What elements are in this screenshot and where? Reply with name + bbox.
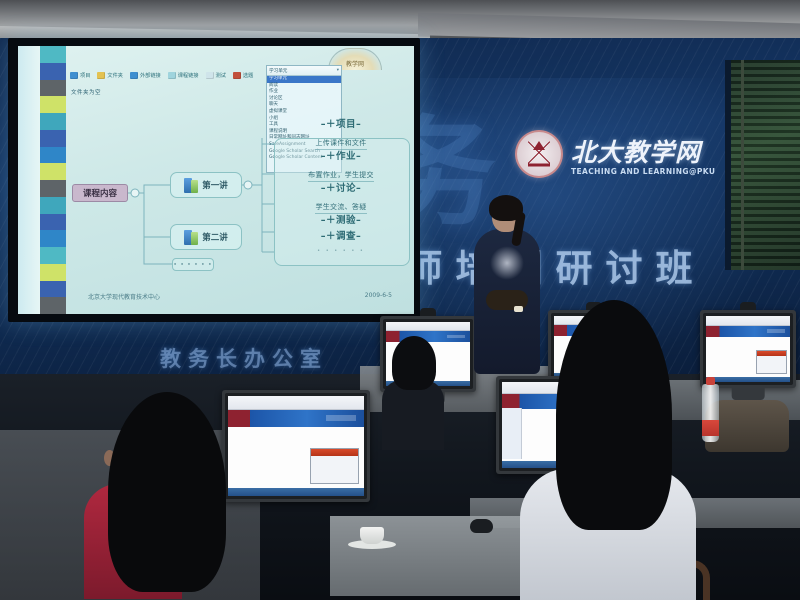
test-icon (206, 72, 214, 79)
dropdown-option[interactable]: 阅读 (267, 83, 341, 90)
chevron-down-icon[interactable]: ▾ (337, 68, 339, 73)
colorbar-segment (40, 197, 66, 214)
monitor-screen[interactable] (228, 396, 364, 496)
toolbar-item-label: 外部链接 (140, 72, 161, 79)
student-mid (382, 336, 444, 446)
dropdown-selected-label: 学习单元 (269, 68, 287, 74)
banner-char-5: 讨 (600, 238, 650, 292)
colorbar-segment (40, 96, 66, 113)
browser-toolbar (706, 316, 790, 326)
colorbar-segment (40, 297, 66, 314)
windows-taskbar (228, 488, 364, 496)
folder-icon (97, 72, 105, 79)
site-header-banner (706, 326, 790, 337)
colorbar-column (40, 46, 66, 314)
water-bottle (702, 384, 719, 442)
mindmap-stub-node[interactable]: • • • • • • (172, 258, 214, 271)
classroom-photo-scene: 务 北大教学网 TEACHING AND LEARNING@PKU 师 培 训 … (0, 0, 800, 600)
branch-quiz-title: –＋测验– (274, 212, 408, 226)
webcam-icon (740, 302, 756, 310)
dropdown-option[interactable]: 讨论区 (267, 96, 341, 103)
course-link-icon (168, 72, 176, 79)
toolbar-item-label: 选题 (243, 72, 253, 79)
mindmap-branch-project[interactable]: –＋项目– 上传课件和文件 (274, 116, 408, 150)
colorbar-segment (40, 130, 66, 147)
student-mid-hair (392, 336, 436, 390)
branch-discussion-title: –＋讨论– (274, 180, 408, 194)
popup-dialog[interactable] (756, 350, 787, 374)
lecture-1-label: 第一讲 (202, 179, 228, 191)
popup-titlebar (311, 449, 357, 456)
monitor-front-left[interactable] (222, 390, 370, 502)
browser-toolbar (386, 322, 470, 331)
browser-toolbar (228, 396, 364, 410)
site-header-banner (228, 410, 364, 427)
pku-seal-icon (515, 130, 563, 178)
slide-footer-org: 北京大学现代教育技术中心 (88, 292, 160, 301)
colorbar-segment (40, 230, 66, 247)
bottle-label (702, 420, 719, 436)
mindmap-branch-quiz[interactable]: –＋测验– (274, 212, 408, 226)
book-icon (184, 178, 198, 193)
colorbar-segment (40, 180, 66, 197)
window-frame (741, 60, 744, 270)
windows-taskbar (706, 377, 790, 382)
computer-mouse[interactable] (470, 519, 493, 533)
book-icon (184, 230, 198, 245)
banner-char-6: 班 (650, 238, 700, 292)
colorbar-segment (40, 214, 66, 231)
course-content-mindmap: 课程内容 第一讲 第二讲 • • • • • • –＋项目– 上传课件和文件 –… (66, 132, 414, 272)
toolbar-item-1[interactable]: 项目 (70, 72, 90, 79)
projection-colorbars (18, 46, 66, 314)
toolbar-item-3[interactable]: 外部链接 (130, 72, 161, 79)
colorbar-white (18, 46, 40, 314)
toolbar-item-6[interactable]: 选题 (233, 72, 253, 79)
popup-dialog[interactable] (310, 448, 358, 484)
popup-titlebar (757, 351, 786, 356)
mindmap-lecture-1[interactable]: 第一讲 (170, 172, 242, 198)
tea-cup (360, 527, 384, 544)
mindmap-branch-more[interactable]: • • • • • • (274, 248, 408, 254)
colorbar-segment (40, 281, 66, 298)
toolbar-item-label: 测试 (216, 72, 226, 79)
browser-content (706, 337, 790, 377)
banner-char-4: 研 (550, 238, 600, 292)
pku-brand-chinese: 北大教学网 (571, 133, 715, 169)
mindmap-lecture-2[interactable]: 第二讲 (170, 224, 242, 250)
slide-content: 教学网 项目文件夹外部链接课程链接测试选题 文件夹为空 学习单元 ▾ 学习单元阅… (66, 46, 414, 314)
dropdown-header[interactable]: 学习单元 ▾ (267, 66, 341, 76)
topic-icon (233, 72, 241, 79)
colorbar-segment (40, 63, 66, 80)
project-icon (70, 72, 78, 79)
monitor-far-right[interactable] (700, 310, 796, 388)
student-front-left (78, 392, 238, 600)
colorbar-segment (40, 264, 66, 281)
toolbar-item-label: 项目 (80, 72, 90, 79)
student-front-right-hair (556, 300, 672, 530)
toolbar-item-label: 文件夹 (107, 72, 123, 79)
mindmap-branch-survey[interactable]: –＋调查– (274, 228, 408, 242)
branch-project-title: –＋项目– (274, 116, 408, 130)
mindmap-root-node[interactable]: 课程内容 (72, 184, 128, 202)
ceiling (0, 0, 800, 42)
dropdown-option[interactable]: 学习单元 (267, 76, 341, 83)
colorbar-segment (40, 46, 66, 63)
toolbar-item-5[interactable]: 测试 (206, 72, 226, 79)
dropdown-option[interactable]: 作业 (267, 89, 341, 96)
colorbar-segment (40, 163, 66, 180)
monitor-screen[interactable] (706, 316, 790, 382)
colorbar-segment (40, 147, 66, 164)
branch-homework-title: –＋作业– (274, 148, 408, 162)
toolbar-item-label: 课程链接 (178, 72, 199, 79)
presenter-top-print (490, 246, 524, 280)
student-mid-torso (382, 380, 444, 450)
colorbar-segment (40, 247, 66, 264)
colorbar-segment (40, 113, 66, 130)
toolbar-item-2[interactable]: 文件夹 (97, 72, 123, 79)
seminar-banner: 师 培 训 研 讨 班 (400, 238, 700, 292)
toolbar-item-4[interactable]: 课程链接 (168, 72, 199, 79)
wall-sign-1: 教务长办公室 (160, 343, 328, 373)
projected-slide: 教学网 项目文件夹外部链接课程链接测试选题 文件夹为空 学习单元 ▾ 学习单元阅… (18, 46, 414, 314)
link-icon (130, 72, 138, 79)
empty-folder-note: 文件夹为空 (71, 88, 101, 96)
student-front-right (500, 300, 700, 600)
mindmap-branch-discussion[interactable]: –＋讨论– 学生交流、答疑 (274, 180, 408, 214)
webcam-icon (420, 308, 436, 316)
dropdown-option[interactable]: 聊天 (267, 102, 341, 109)
slide-footer: 北京大学现代教育技术中心 2009-6-5 (66, 292, 414, 301)
browser-content (228, 427, 364, 488)
dropdown-option[interactable]: 虚拟课堂 (267, 109, 341, 116)
lecture-2-label: 第二讲 (202, 231, 228, 243)
colorbar-segment (40, 80, 66, 97)
branch-survey-title: –＋调查– (274, 228, 408, 242)
window (725, 60, 800, 270)
student-front-left-hair (108, 392, 226, 592)
monitor-stand (732, 387, 765, 400)
mindmap-branch-homework[interactable]: –＋作业– 布置作业，学生提交 (274, 148, 408, 182)
bottle-cap (706, 377, 715, 385)
pku-brand-lockup: 北大教学网 TEACHING AND LEARNING@PKU (515, 130, 715, 178)
pku-brand-english: TEACHING AND LEARNING@PKU (571, 167, 715, 176)
slide-footer-date: 2009-6-5 (365, 292, 392, 301)
